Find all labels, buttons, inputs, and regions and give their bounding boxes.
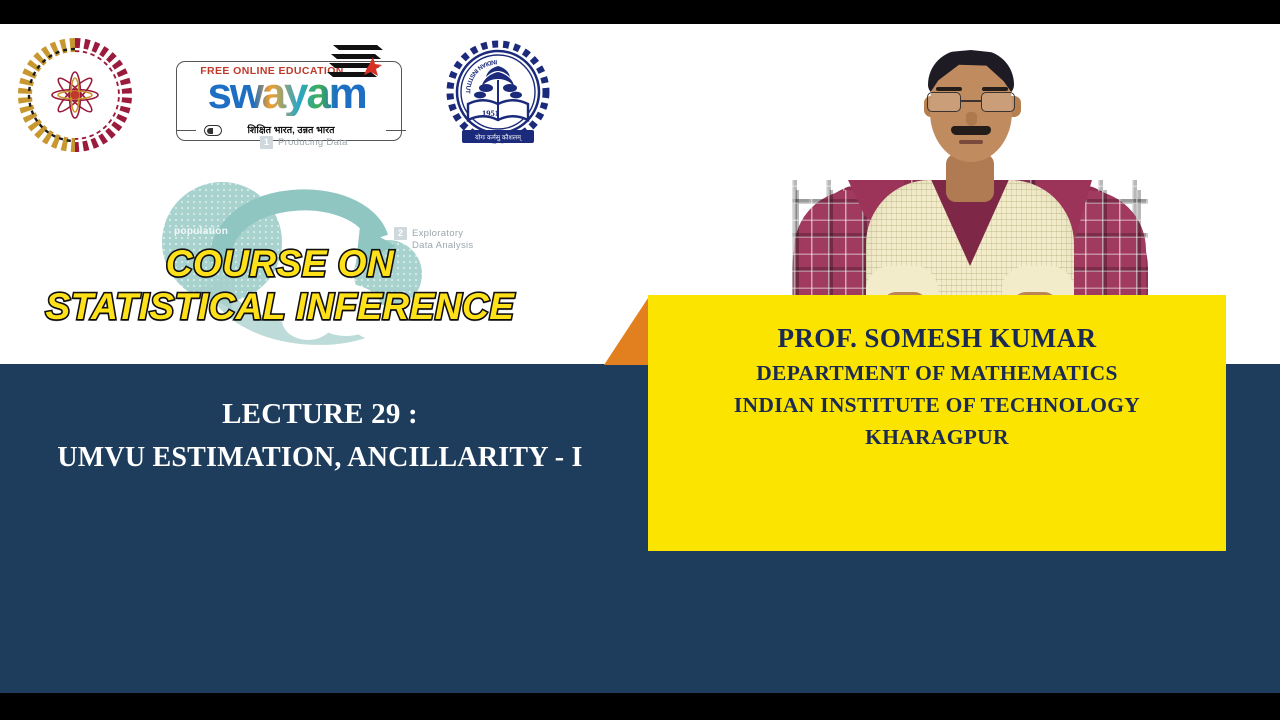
speaker-institute: INDIAN INSTITUTE OF TECHNOLOGY [648, 389, 1226, 421]
cycle-node-2-number: 2 [394, 227, 407, 240]
course-title-line1: COURSE ON [0, 242, 560, 285]
swayam-logo: FREE ONLINE EDUCATION swayam शिक्षित भार… [168, 39, 410, 147]
lecture-topic: UMVU ESTIMATION, ANCILLARITY - I [0, 436, 640, 480]
cycle-node-1-label: Producing Data [278, 137, 348, 149]
books-icon [323, 39, 393, 83]
photo-lens-left [927, 92, 961, 112]
letterbox-bar-top [0, 0, 1280, 24]
government-emblem-logo [15, 35, 135, 155]
lecture-title: LECTURE 29 : UMVU ESTIMATION, ANCILLARIT… [0, 392, 640, 480]
photo-mouth [959, 140, 983, 144]
speaker-card: PROF. SOMESH KUMAR DEPARTMENT OF MATHEMA… [604, 295, 1228, 551]
svg-text:1951: 1951 [482, 108, 499, 118]
letterbox-bar-bottom [0, 693, 1280, 720]
speaker-department: DEPARTMENT OF MATHEMATICS [648, 357, 1226, 389]
course-title-line2: STATISTICAL INFERENCE [0, 285, 560, 328]
photo-eyebrow-right [982, 87, 1008, 91]
photo-lens-right [981, 92, 1015, 112]
photo-eyebrow-left [936, 87, 962, 91]
cycle-node-1-number: 1 [260, 136, 273, 149]
eyeglasses-icon [924, 92, 1018, 112]
course-title: COURSE ON STATISTICAL INFERENCE [0, 242, 560, 328]
speaker-name: PROF. SOMESH KUMAR [648, 323, 1226, 354]
speaker-city: KHARAGPUR [648, 421, 1226, 453]
orange-corner-accent [604, 295, 650, 365]
video-frame: FREE ONLINE EDUCATION swayam शिक्षित भार… [0, 24, 1280, 693]
photo-glasses-bridge [961, 100, 981, 102]
speaker-card-body: PROF. SOMESH KUMAR DEPARTMENT OF MATHEMA… [648, 295, 1226, 551]
speaker-affiliation: DEPARTMENT OF MATHEMATICS INDIAN INSTITU… [648, 357, 1226, 453]
lecture-number: LECTURE 29 : [0, 392, 640, 436]
photo-nose [966, 112, 977, 126]
cycle-bubble-population-label: population [174, 226, 228, 237]
presenter-photo [770, 30, 1170, 330]
photo-moustache [951, 126, 991, 135]
